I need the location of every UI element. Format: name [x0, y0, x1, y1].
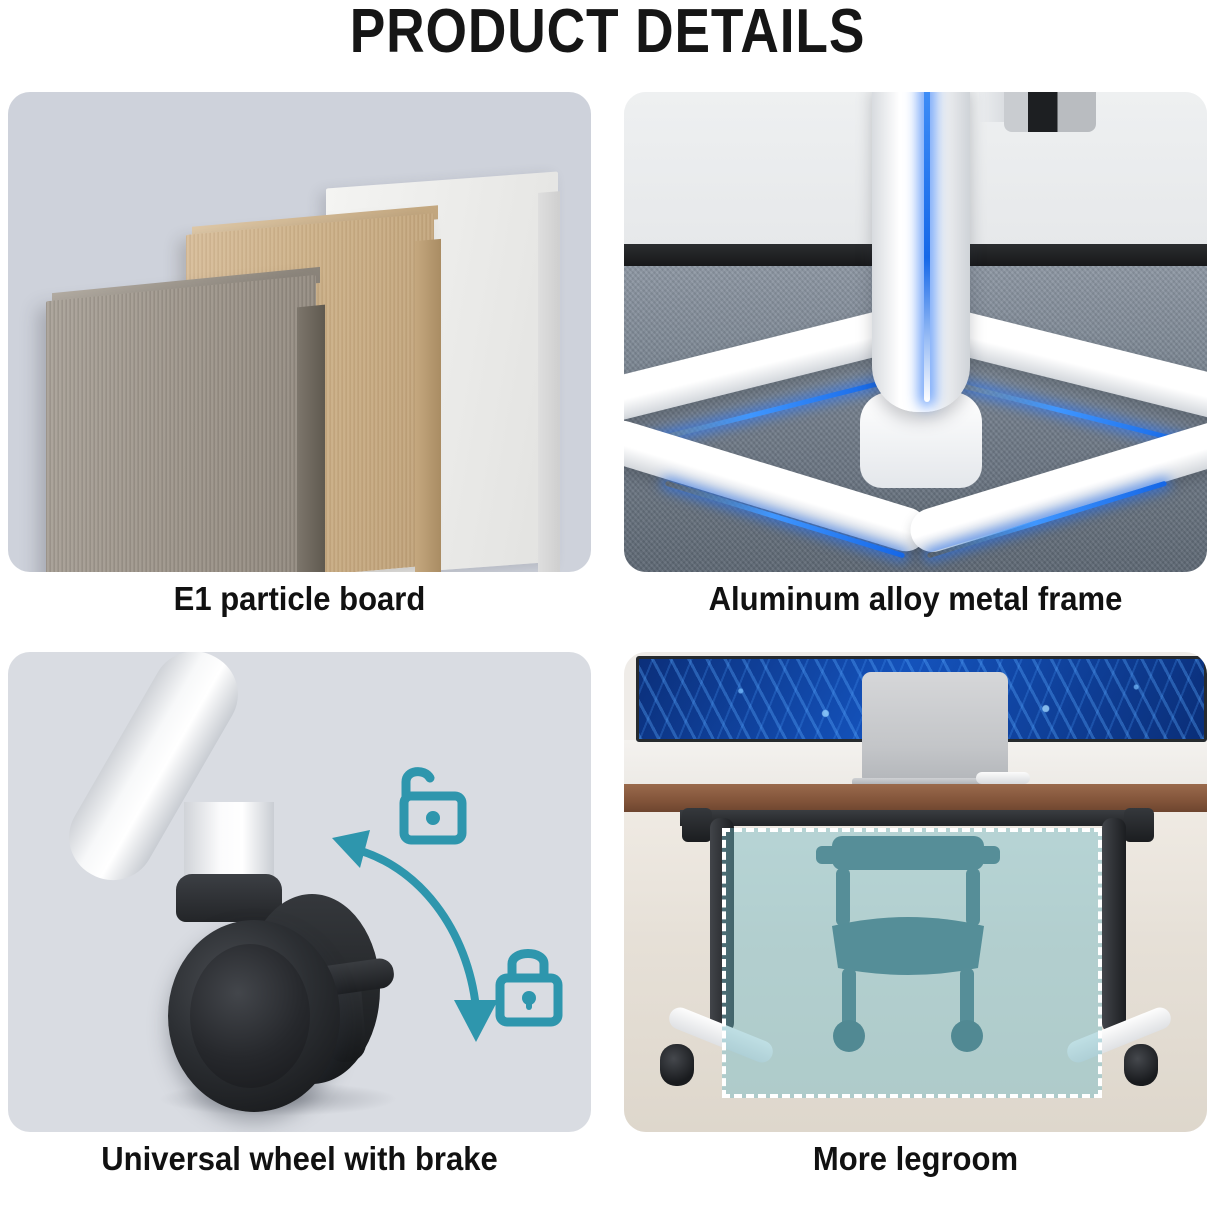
laptop: [862, 672, 1008, 780]
desk-caster-left: [660, 1044, 694, 1086]
oak-board-edge: [415, 239, 441, 572]
particle-board-photo: [8, 92, 591, 572]
lock-icon: [486, 940, 572, 1032]
detail-cell-particle-board: E1 particle board: [8, 92, 591, 637]
desk-caster-right: [1124, 1044, 1158, 1086]
gray-board-edge: [297, 305, 325, 572]
caster-wheel-hub: [190, 944, 310, 1088]
unlock-icon: [386, 760, 472, 850]
caption-aluminum-frame: Aluminum alloy metal frame: [641, 580, 1189, 618]
glow-line-leg: [924, 92, 930, 402]
aluminum-frame-photo: [624, 92, 1207, 572]
detail-cell-aluminum-frame: Aluminum alloy metal frame: [624, 92, 1207, 637]
desk-leg-right: [1102, 818, 1126, 1033]
caption-universal-wheel: Universal wheel with brake: [25, 1140, 573, 1178]
desk-bracket-left: [682, 808, 712, 842]
gray-board: [46, 275, 316, 572]
more-legroom-photo: [624, 652, 1207, 1132]
frame-vertical-leg: [872, 92, 970, 412]
table-clamp-detail: [1004, 92, 1096, 132]
detail-cell-universal-wheel: Universal wheel with brake: [8, 652, 591, 1197]
product-details-page: PRODUCT DETAILS E1 particle board: [0, 0, 1215, 1205]
details-grid: E1 particle board: [8, 92, 1207, 1197]
universal-wheel-photo: [8, 652, 591, 1132]
desk-top-surface: [624, 784, 1207, 812]
page-title: PRODUCT DETAILS: [85, 0, 1130, 67]
caster-collar: [176, 874, 282, 922]
caption-more-legroom: More legroom: [641, 1140, 1189, 1178]
detail-cell-more-legroom: More legroom: [624, 652, 1207, 1197]
mouse: [976, 772, 1030, 784]
caption-particle-board: E1 particle board: [25, 580, 573, 618]
legroom-highlight-area: [722, 828, 1102, 1098]
desk-apron: [680, 810, 1150, 826]
white-board-edge: [538, 191, 560, 572]
desk-bracket-right: [1124, 808, 1154, 842]
